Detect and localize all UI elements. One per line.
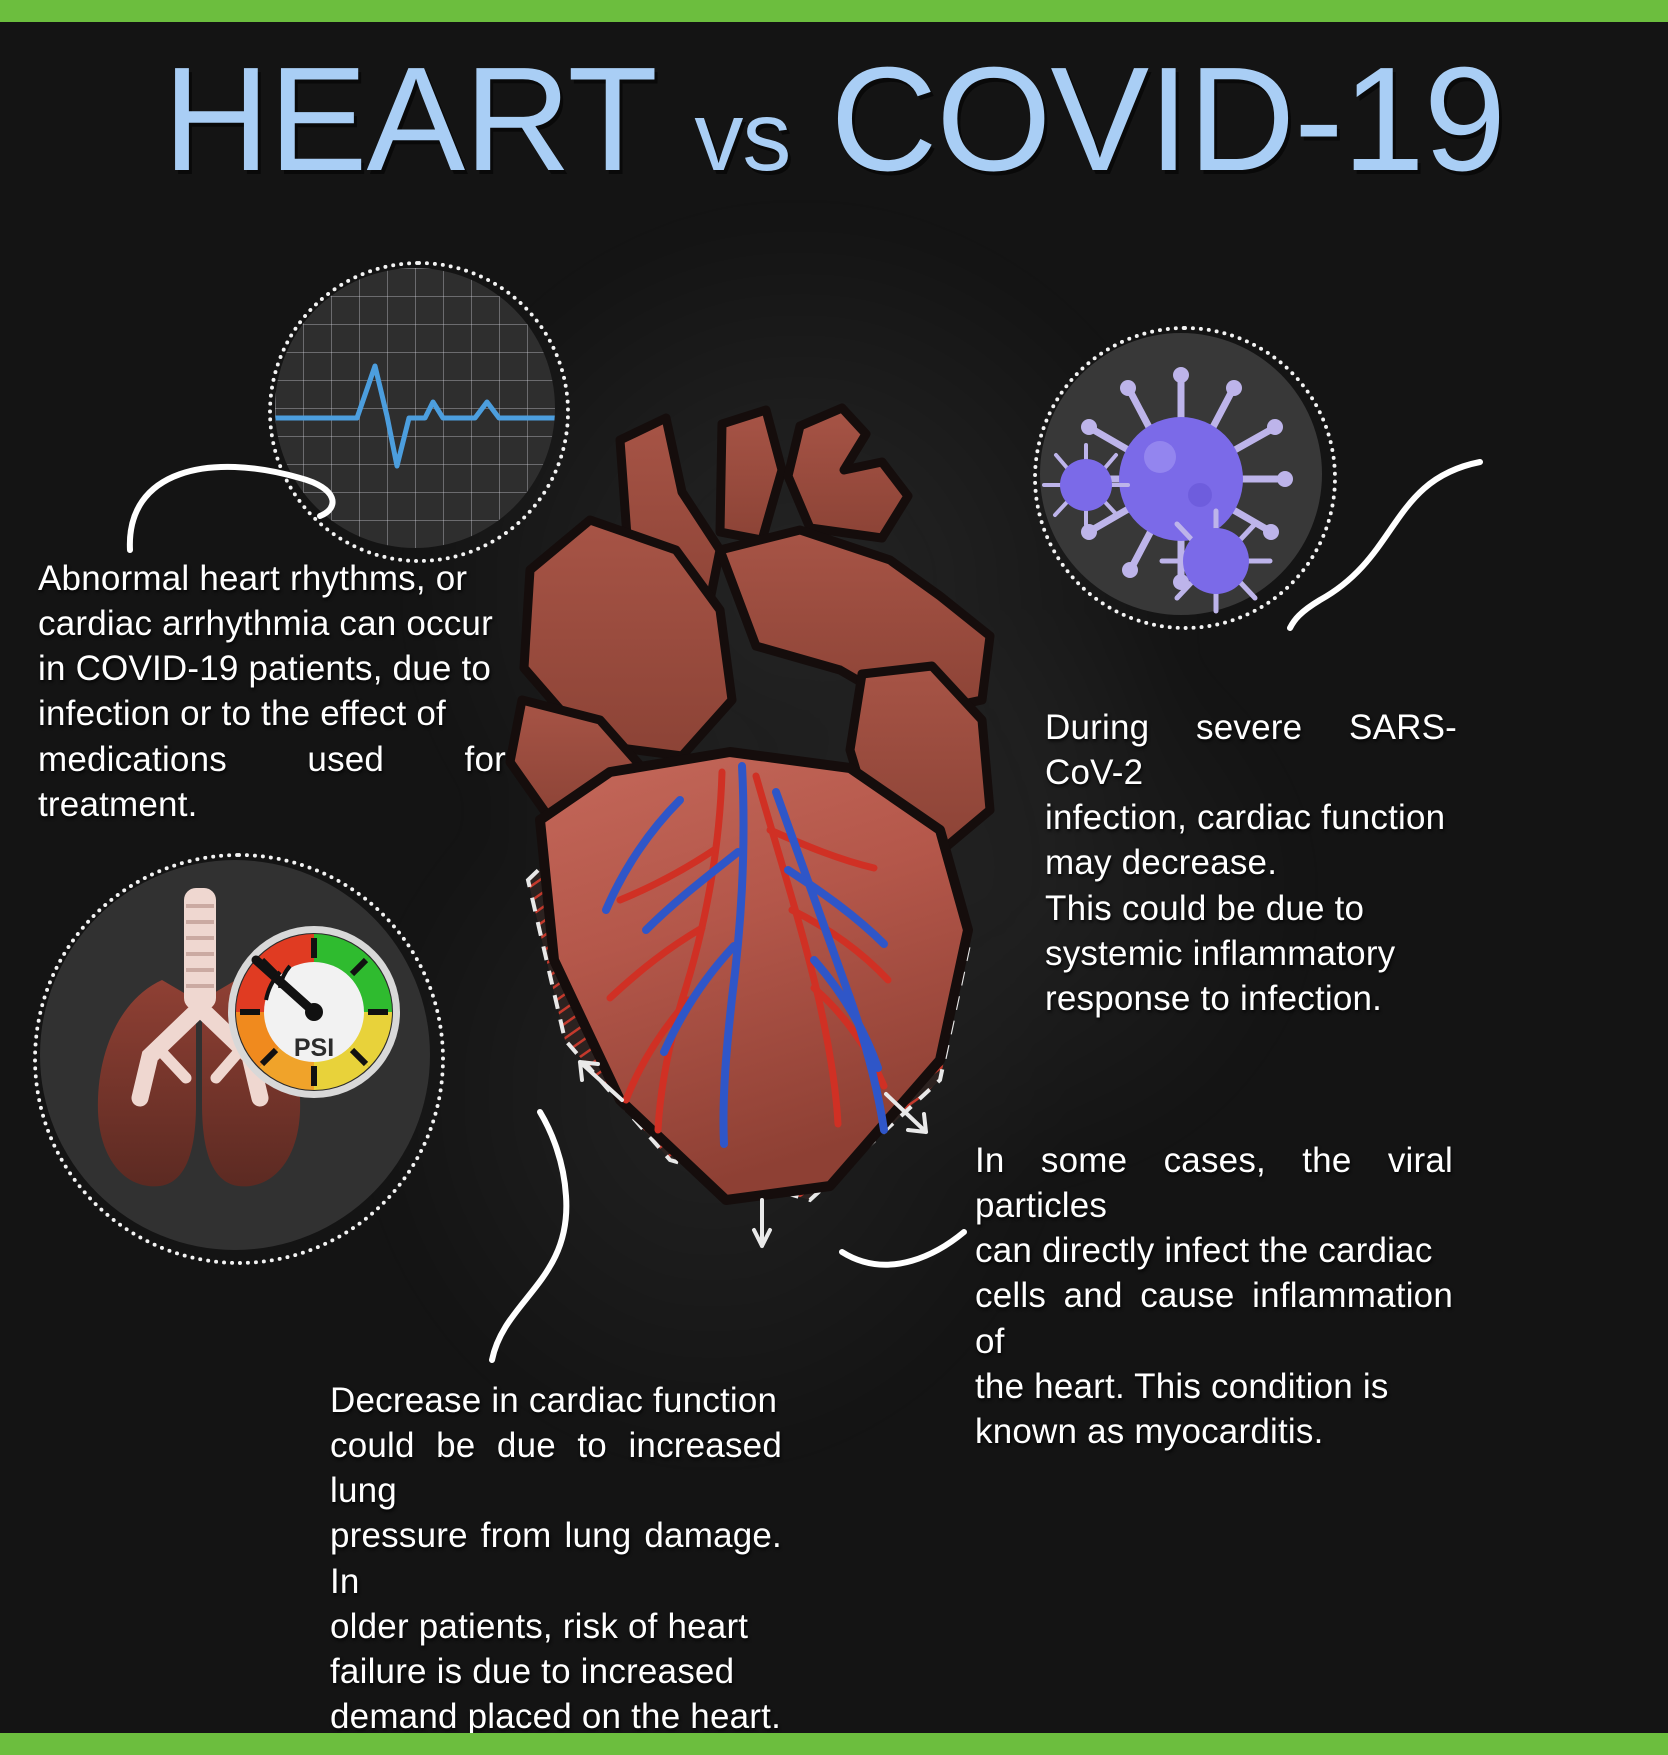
callout-line: older patients, risk of heart — [330, 1604, 782, 1649]
bottom-accent-bar — [0, 1733, 1668, 1755]
callout-line: infection, cardiac function — [1045, 795, 1457, 840]
ecg-badge-dotted-ring — [268, 261, 570, 563]
callout-line: During severe SARS-CoV-2 — [1045, 705, 1457, 795]
top-accent-bar — [0, 0, 1668, 22]
callout-line: in COVID-19 patients, due to — [38, 646, 506, 691]
callout-arrhythmia: Abnormal heart rhythms, or cardiac arrhy… — [38, 556, 506, 827]
callout-line: failure is due to increased — [330, 1649, 782, 1694]
page-title: HEART vs COVID-19 — [0, 46, 1668, 194]
title-part-heart: HEART — [163, 37, 654, 202]
infographic-poster: HEART vs COVID-19 — [0, 0, 1668, 1755]
callout-line: Abnormal heart rhythms, or — [38, 556, 506, 601]
title-part-covid: COVID-19 — [830, 37, 1505, 202]
callout-line: can directly infect the cardiac — [975, 1228, 1453, 1273]
callout-line: may decrease. — [1045, 840, 1457, 885]
callout-line: known as myocarditis. — [975, 1409, 1453, 1454]
heart-ventricles — [540, 752, 968, 1200]
callout-line: pressure from lung damage. In — [330, 1513, 782, 1603]
callout-line: cardiac arrhythmia can occur — [38, 601, 506, 646]
callout-line: response to infection. — [1045, 976, 1457, 1021]
callout-line: medications used for treatment. — [38, 737, 506, 827]
heart-illustration — [470, 400, 1070, 1260]
title-part-vs: vs — [694, 81, 790, 191]
callout-line: infection or to the effect of — [38, 691, 506, 736]
callout-line: the heart. This condition is — [975, 1364, 1453, 1409]
callout-line: systemic inflammatory — [1045, 931, 1457, 976]
callout-line: could be due to increased lung — [330, 1423, 782, 1513]
callout-line: Decrease in cardiac function — [330, 1378, 782, 1423]
callout-line: cells and cause inflammation of — [975, 1273, 1453, 1363]
virus-badge-dotted-ring — [1033, 326, 1337, 630]
lungs-badge-dotted-ring — [33, 853, 445, 1265]
callout-sars-infection: During severe SARS-CoV-2 infection, card… — [1045, 705, 1457, 1021]
callout-lung-pressure: Decrease in cardiac function could be du… — [330, 1378, 782, 1739]
callout-line: In some cases, the viral particles — [975, 1138, 1453, 1228]
callout-line: This could be due to — [1045, 886, 1457, 931]
callout-myocarditis: In some cases, the viral particles can d… — [975, 1138, 1453, 1454]
